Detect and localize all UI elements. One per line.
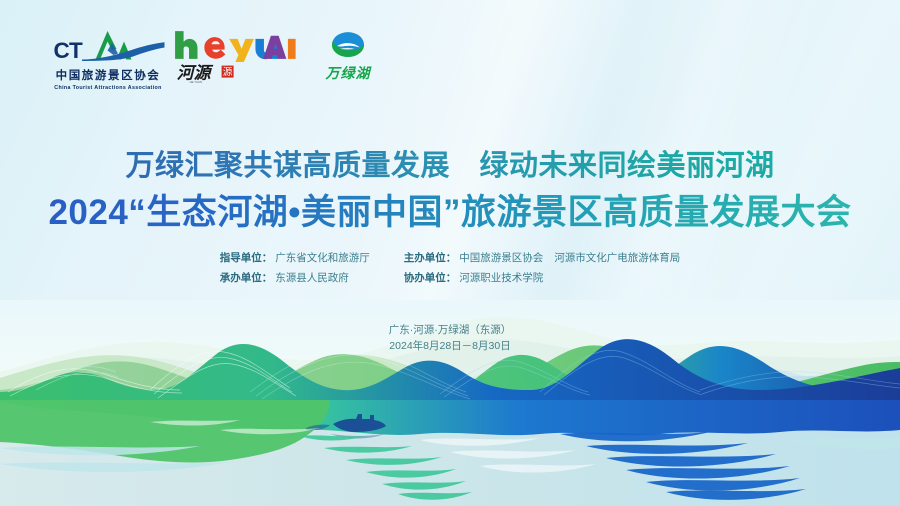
ctaa-mountain-wave-logo-icon: CT <box>52 28 165 64</box>
credit-host: 主办单位： 中国旅游景区协会 河源市文化广电旅游体育局 <box>404 250 681 265</box>
lake-oval-logo-icon <box>317 30 379 62</box>
credit-value-secondary: 河源市文化广电旅游体育局 <box>554 250 680 265</box>
svg-text:HE YUAN: HE YUAN <box>190 80 202 84</box>
credit-organizer: 承办单位： 东源县人民政府 <box>220 270 370 285</box>
venue-block: 广东·河源·万绿湖（东源） 2024年8月28日－8月30日 <box>0 322 900 354</box>
credit-coorganizer: 协办单位： 河源职业技术学院 <box>404 270 681 285</box>
headline-line-2: 2024“生态河湖•美丽中国”旅游景区高质量发展大会 <box>0 184 900 235</box>
heyuan-name-cn-calligraphy-icon: 河源 源 HE YUAN <box>172 60 284 84</box>
ctaa-name-en: China Tourist Attractions Association <box>51 85 165 91</box>
logo-heyuan: 河源 源 HE YUAN <box>172 28 292 84</box>
svg-text:CT: CT <box>54 38 83 63</box>
logo-wanlvhu: 万绿湖 <box>306 30 390 83</box>
credit-value: 广东省文化和旅游厅 <box>275 250 370 265</box>
venue-dates: 2024年8月28日－8月30日 <box>0 338 900 354</box>
credit-value: 河源职业技术学院 <box>459 270 543 285</box>
svg-text:源: 源 <box>223 67 233 78</box>
organizer-credits: 指导单位： 广东省文化和旅游厅 主办单位： 中国旅游景区协会 河源市文化广电旅游… <box>0 250 900 285</box>
wanlvhu-name-cn: 万绿湖 <box>306 63 390 83</box>
credit-label: 承办单位： <box>220 270 273 285</box>
credit-label: 指导单位： <box>220 250 273 265</box>
heyuan-wordmark-icon <box>172 28 296 62</box>
credit-value: 东源县人民政府 <box>275 270 349 285</box>
poster-canvas: CT 中国旅游景区协会 China Tourist Attractions As… <box>0 0 900 506</box>
headline-line-1: 万绿汇聚共谋高质量发展 绿动未来同绘美丽河湖 <box>0 142 900 184</box>
credit-label: 主办单位： <box>404 250 457 265</box>
ctaa-name-cn: 中国旅游景区协会 <box>52 67 164 83</box>
credit-label: 协办单位： <box>404 270 457 285</box>
logo-row: CT 中国旅游景区协会 China Tourist Attractions As… <box>52 28 390 91</box>
credit-guidance: 指导单位： 广东省文化和旅游厅 <box>220 250 370 265</box>
venue-place: 广东·河源·万绿湖（东源） <box>0 322 900 338</box>
credit-value: 中国旅游景区协会 <box>459 250 543 265</box>
logo-ctaa: CT 中国旅游景区协会 China Tourist Attractions As… <box>52 28 164 91</box>
